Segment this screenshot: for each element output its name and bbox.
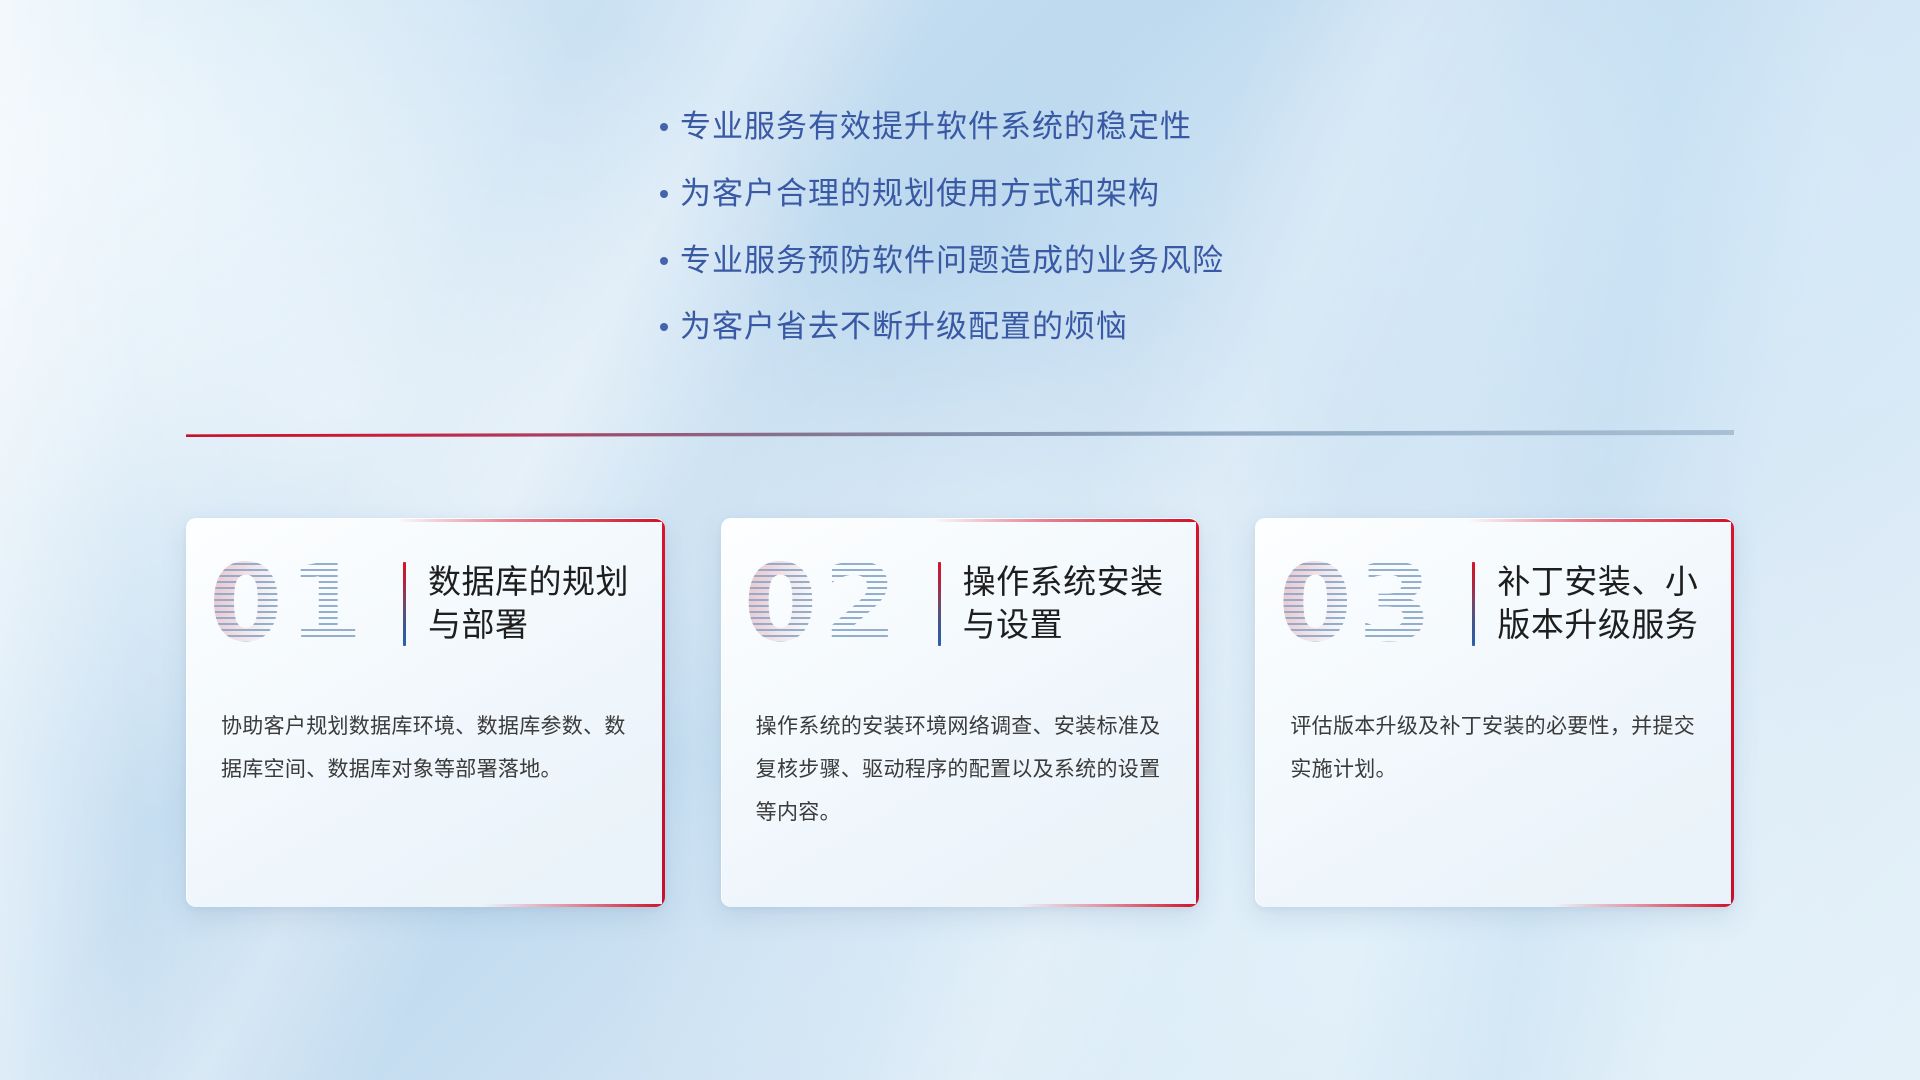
list-item: 为客户省去不断升级配置的烦恼 <box>660 308 1420 347</box>
card-accent-bottom <box>483 904 665 907</box>
bullet-text: 为客户合理的规划使用方式和架构 <box>680 175 1160 214</box>
card-title-rule <box>938 562 941 646</box>
list-item: 为客户合理的规划使用方式和架构 <box>660 175 1420 214</box>
card-title: 数据库的规划与部署 <box>428 561 639 647</box>
service-card-group: 01 数据库的规划与部署 协助客户规划数据库环境、数据库参数、数据库空间、数据库… <box>186 518 1734 918</box>
slide-canvas: 专业服务有效提升软件系统的稳定性 为客户合理的规划使用方式和架构 专业服务预防软… <box>0 0 1920 1080</box>
benefits-bullet-list: 专业服务有效提升软件系统的稳定性 为客户合理的规划使用方式和架构 专业服务预防软… <box>660 108 1420 375</box>
section-divider <box>186 430 1734 440</box>
card-header: 01 数据库的规划与部署 <box>187 519 665 689</box>
card-number-text: 02 <box>744 551 904 657</box>
bullet-dot-icon <box>660 179 680 205</box>
card-title: 补丁安装、小版本升级服务 <box>1497 561 1708 647</box>
card-title-rule <box>1472 562 1475 646</box>
card-accent-bottom <box>1018 904 1200 907</box>
card-body-text: 操作系统的安装环境网络调查、安装标准及复核步骤、驱动程序的配置以及系统的设置等内… <box>722 689 1200 834</box>
card-header: 02 操作系统安装与设置 <box>722 519 1200 689</box>
service-card-03[interactable]: 03 补丁安装、小版本升级服务 评估版本升级及补丁安装的必要性，并提交实施计划。 <box>1255 518 1734 907</box>
list-item: 专业服务预防软件问题造成的业务风险 <box>660 242 1420 281</box>
service-card-02[interactable]: 02 操作系统安装与设置 操作系统的安装环境网络调查、安装标准及复核步骤、驱动程… <box>721 518 1200 907</box>
card-number-watermark: 02 <box>744 544 934 664</box>
card-number-text: 01 <box>209 551 369 657</box>
bullet-text: 专业服务预防软件问题造成的业务风险 <box>680 242 1224 281</box>
card-title-rule <box>403 562 406 646</box>
card-title: 操作系统安装与设置 <box>963 561 1174 647</box>
bullet-text: 专业服务有效提升软件系统的稳定性 <box>680 108 1192 147</box>
divider-bar <box>186 430 1734 437</box>
bullet-text: 为客户省去不断升级配置的烦恼 <box>680 308 1128 347</box>
list-item: 专业服务有效提升软件系统的稳定性 <box>660 108 1420 147</box>
card-body-text: 评估版本升级及补丁安装的必要性，并提交实施计划。 <box>1256 689 1734 791</box>
card-number-watermark: 01 <box>209 544 399 664</box>
card-number-watermark: 03 <box>1278 544 1468 664</box>
card-number-text: 03 <box>1278 551 1438 657</box>
card-body-text: 协助客户规划数据库环境、数据库参数、数据库空间、数据库对象等部署落地。 <box>187 689 665 791</box>
bullet-dot-icon <box>660 112 680 138</box>
bullet-dot-icon <box>660 312 680 338</box>
card-header: 03 补丁安装、小版本升级服务 <box>1256 519 1734 689</box>
card-accent-bottom <box>1553 904 1735 907</box>
bullet-dot-icon <box>660 246 680 272</box>
service-card-01[interactable]: 01 数据库的规划与部署 协助客户规划数据库环境、数据库参数、数据库空间、数据库… <box>186 518 665 907</box>
